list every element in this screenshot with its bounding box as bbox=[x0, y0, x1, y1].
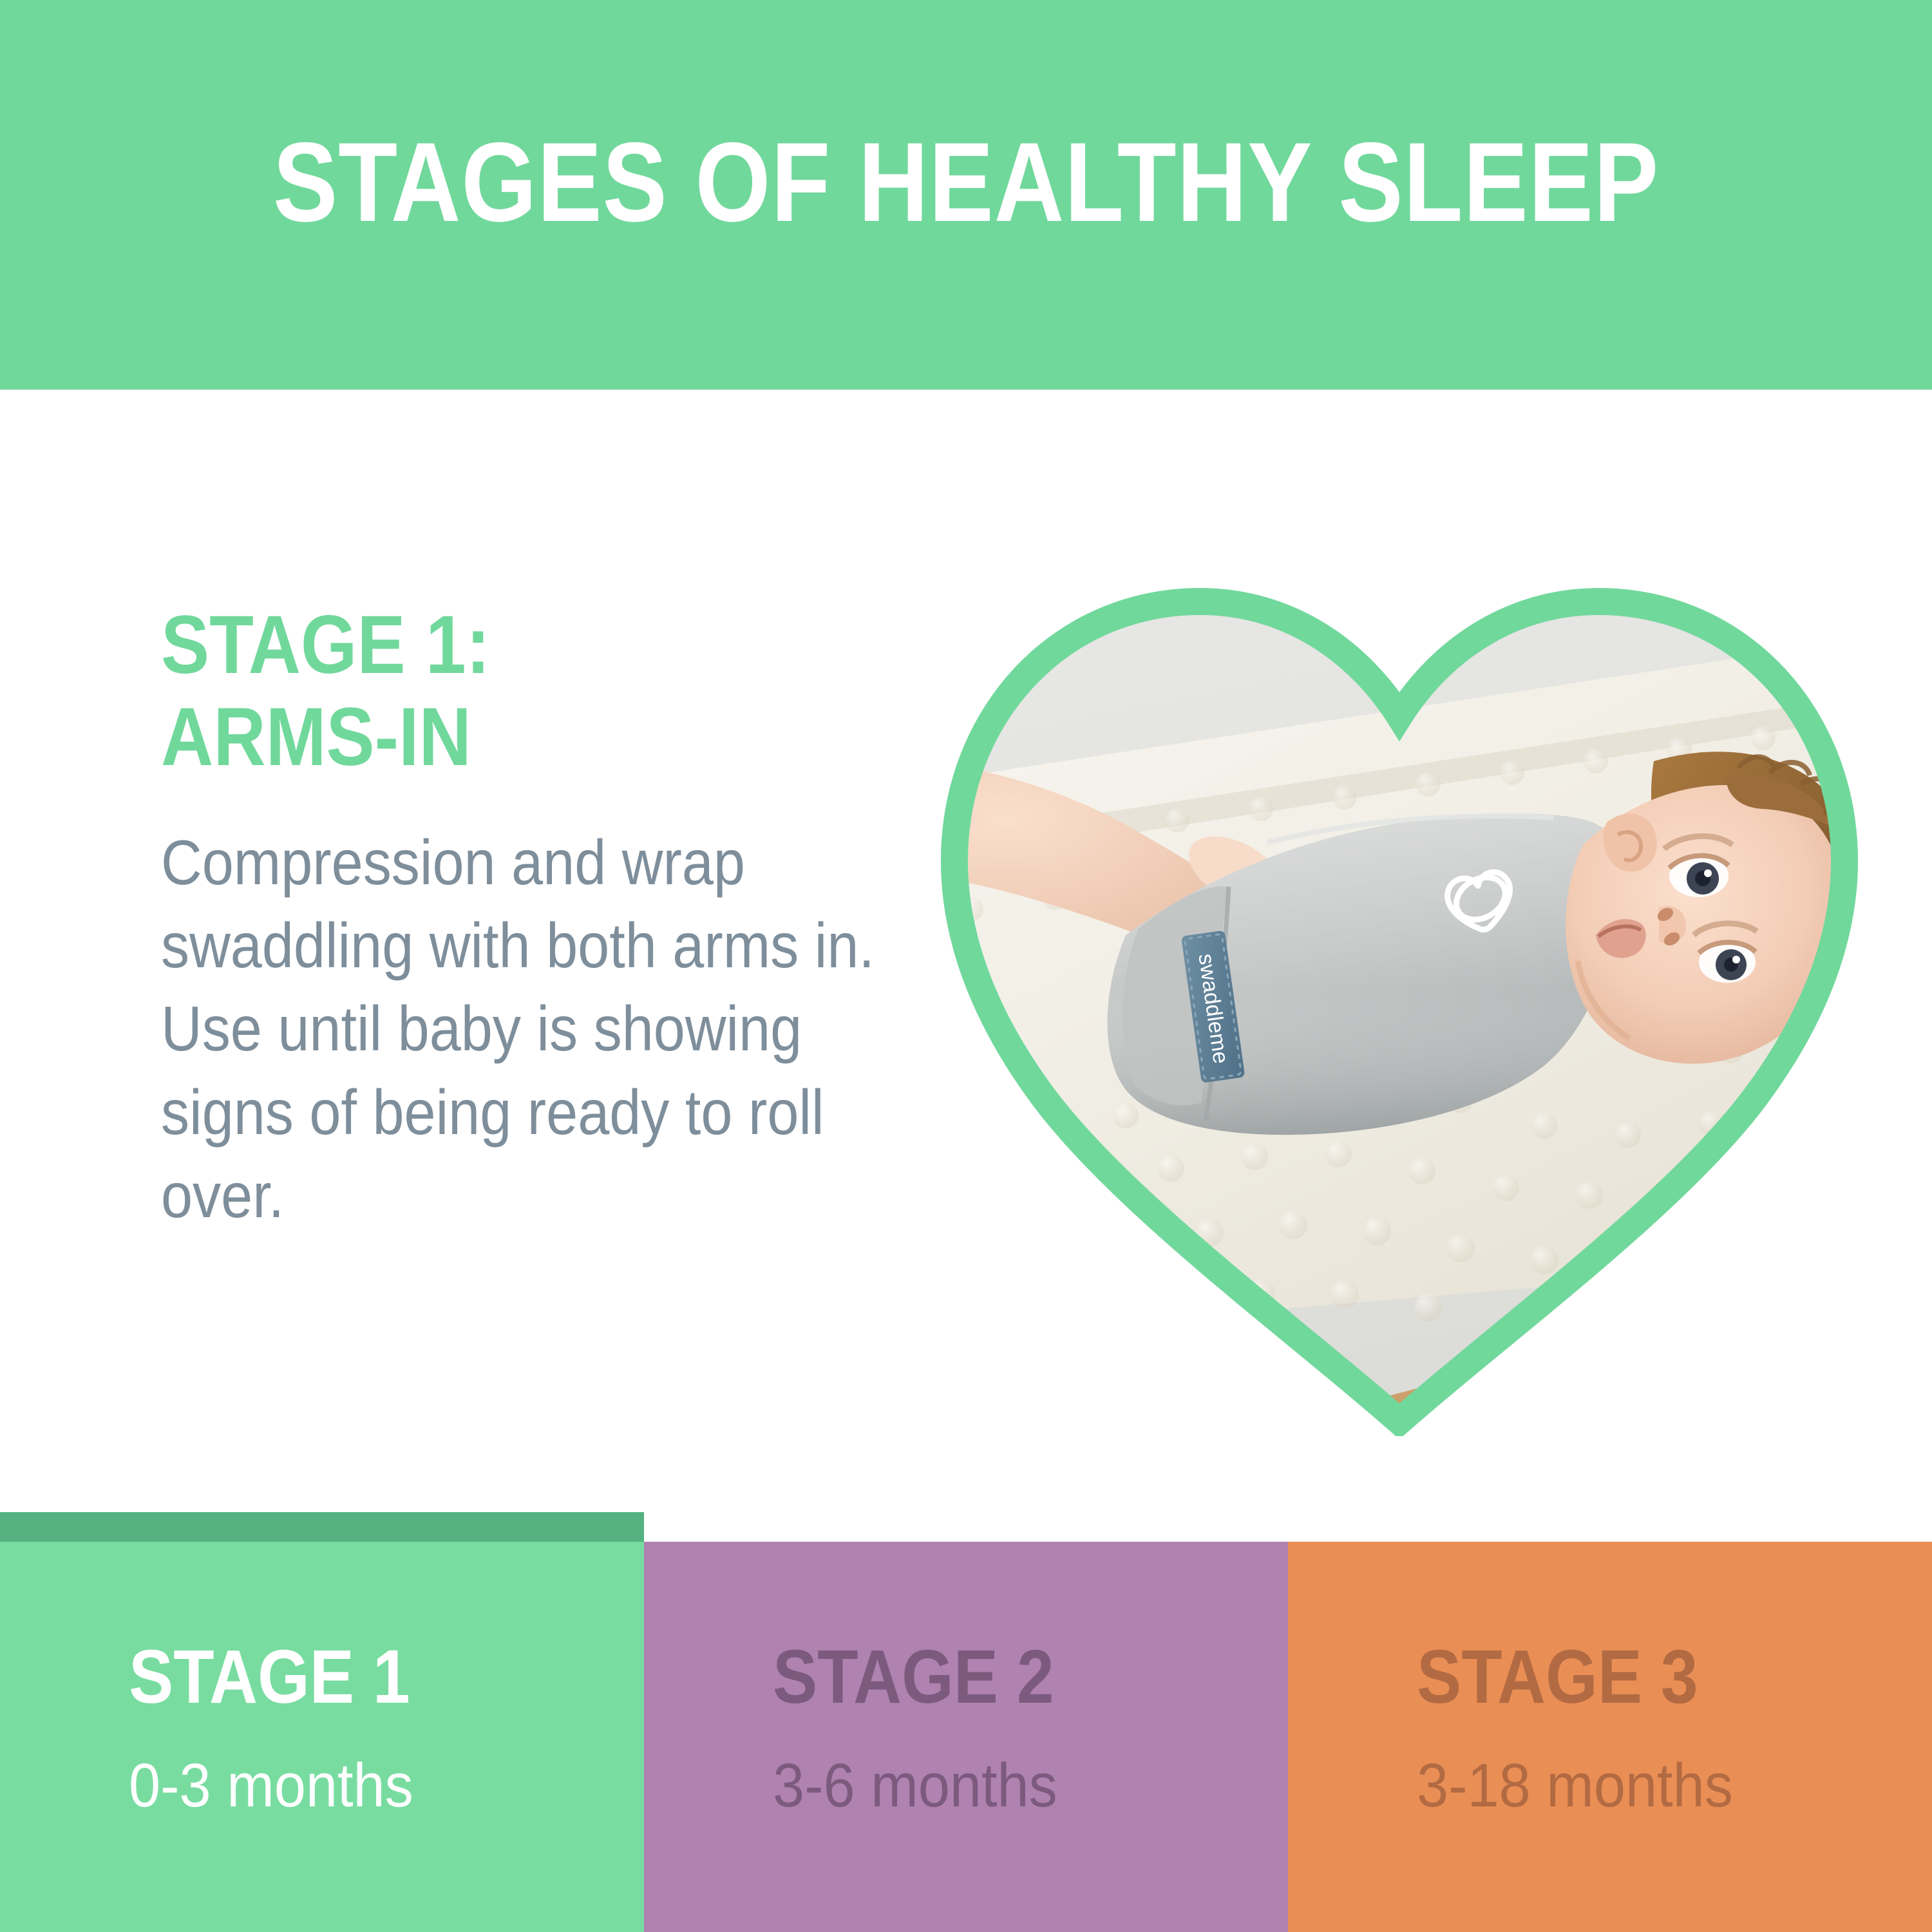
header-band: STAGES OF HEALTHY SLEEP bbox=[0, 0, 1932, 390]
heart-photo-frame: swaddleme bbox=[933, 484, 1866, 1436]
stage-bar-active-cap bbox=[0, 1512, 644, 1542]
stage-bar-title: STAGE 2 bbox=[773, 1639, 1054, 1715]
stage-bar-age-range: 3-6 months bbox=[773, 1755, 1066, 1817]
stage-bar-stage-2[interactable]: STAGE 2 3-6 months bbox=[644, 1542, 1288, 1932]
stage-bar-content: STAGE 1 0-3 months bbox=[129, 1639, 448, 1817]
stage-bar-content: STAGE 2 3-6 months bbox=[773, 1639, 1092, 1817]
stage-bar-age-range: 3-18 months bbox=[1417, 1755, 1733, 1817]
stage-bar-stage-3[interactable]: STAGE 3 3-18 months bbox=[1288, 1542, 1932, 1932]
stage-bar-content: STAGE 3 3-18 months bbox=[1417, 1639, 1761, 1817]
stage-heading: STAGE 1: ARMS-IN bbox=[161, 599, 829, 784]
heart-photo-svg: swaddleme bbox=[933, 484, 1866, 1436]
stage-bar-title: STAGE 3 bbox=[1417, 1639, 1719, 1715]
infographic-root: STAGES OF HEALTHY SLEEP STAGE 1: ARMS-IN… bbox=[0, 0, 1932, 1932]
page-title: STAGES OF HEALTHY SLEEP bbox=[135, 126, 1797, 239]
stage-body-text: Compression and wrap swaddling with both… bbox=[161, 821, 909, 1238]
stage-bar-age-range: 0-3 months bbox=[129, 1755, 422, 1817]
stage-description-block: STAGE 1: ARMS-IN Compression and wrap sw… bbox=[161, 599, 921, 1238]
stage-bar-title: STAGE 1 bbox=[129, 1639, 410, 1715]
stage-bar-stage-1[interactable]: STAGE 1 0-3 months bbox=[0, 1512, 644, 1932]
